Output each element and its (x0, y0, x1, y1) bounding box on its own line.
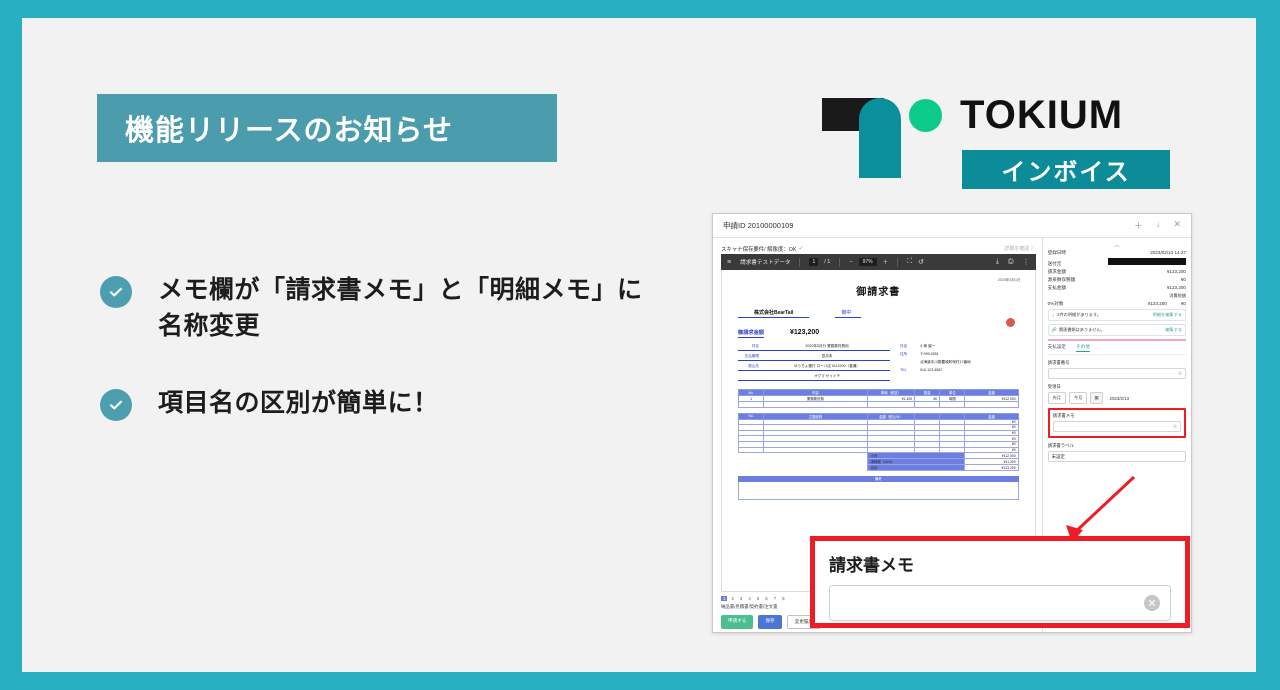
invoice-memo-input[interactable]: ⊗ (1053, 421, 1181, 432)
total-value: ¥123,200 (965, 465, 1018, 471)
invoice-date: 2020年5月1日 (998, 278, 1021, 283)
plus-icon[interactable]: ＋ (1134, 219, 1143, 232)
tokium-logo: TOKIUM インボイス (822, 90, 1157, 195)
invoice-right-column: 氏名 小熊 誠一 住所 〒099-2551 北海道中川郡豊頃町咲村17番地 (900, 344, 1012, 384)
zoom-out-button[interactable]: − (849, 259, 852, 265)
scan-status-row: スキャナ保存要件/ 解像度：OK ✓ 詳細を確認 〉 (721, 243, 1036, 254)
field-key (738, 374, 764, 379)
detail-link[interactable]: 詳細を確認 〉 (1004, 245, 1035, 252)
close-icon[interactable]: ✕ (1173, 219, 1181, 232)
check-icon (100, 389, 132, 421)
page-button[interactable]: 8 (780, 596, 786, 601)
check-icon: ✓ (1052, 313, 1056, 318)
invoice-memo-label: 請求書メモ (1053, 413, 1181, 419)
field-value: ¥0 (1181, 277, 1186, 282)
received-date-label: 受領日 (1048, 384, 1186, 390)
invoice-field-row: 氏名 小熊 誠一 (900, 344, 1012, 349)
panel-tabs: 支払設定 その他 (1048, 341, 1186, 355)
page-button[interactable]: 7 (772, 596, 778, 601)
invoice-detail-columns: 件名 2020年5月分 業務委託費用 支払期限 翌月末 振込先 ゆうちょ銀行 ロ… (738, 344, 1019, 384)
page-title: 機能リリースのお知らせ (97, 107, 453, 149)
field-key: 件名 (738, 344, 764, 349)
totals-row: 合計 ¥123,200 (739, 465, 1019, 471)
page-button[interactable]: 5 (755, 596, 761, 601)
fit-page-icon[interactable]: ⛶ (907, 258, 912, 266)
field-key: 0%対象 (1048, 301, 1064, 307)
total-label: 合計 (867, 465, 965, 471)
page-current-input[interactable]: 1 (809, 258, 818, 266)
invoice-honorific: 御中 (835, 309, 861, 318)
page-button[interactable]: 1 (721, 596, 727, 601)
clear-icon[interactable]: ⊗ (1178, 371, 1182, 377)
field-value: 翌月末 (764, 354, 890, 359)
info-row: 送付元 (1048, 258, 1186, 267)
stamp-seal-icon (1006, 318, 1015, 327)
prev-month-button[interactable]: 先月 (1048, 392, 1066, 404)
invoice-field-row: 支払期限 翌月末 (738, 354, 890, 361)
field-value: 2023/02/13 14:27 (1150, 250, 1186, 255)
clear-icon[interactable]: ⊗ (1173, 424, 1177, 430)
bullet-text: メモ欄が「請求書メモ」と「明細メモ」に名称変更 (158, 273, 660, 344)
field-value: オグマ セイイチ (764, 374, 890, 379)
info-row: 登録日時 2023/02/13 14:27 (1048, 250, 1186, 256)
bullet-text: 項目名の区別が簡単に！ (158, 386, 439, 422)
window-controls: ＋ ↓ ✕ (1134, 219, 1181, 232)
invoice-number-label: 請求書番号 (1048, 360, 1186, 366)
edit-related-link[interactable]: 編集する (1165, 327, 1182, 333)
list-item: メモ欄が「請求書メモ」と「明細メモ」に名称変更 (100, 273, 660, 344)
tab-other[interactable]: その他 (1076, 344, 1090, 352)
note-text: 関連書類はありません。 (1059, 327, 1105, 333)
field-value: 北海道中川郡豊頃町咲村17番地 (920, 360, 1012, 365)
table-row (739, 402, 1019, 408)
invoice-memo-highlight: 請求書メモ ⊗ (1048, 408, 1186, 438)
request-id-label: 申請ID 20100000109 (723, 220, 793, 231)
invoice-amount-value: ¥123,200 (790, 329, 819, 336)
rotate-icon[interactable]: ↺ (918, 258, 924, 266)
invoice-label-value: 未設定 (1052, 454, 1065, 460)
invoice-expense-table: No. 立替経費 金額（税込み） 金額 ¥0 ¥0 ¥0 ¥0 ¥ (738, 413, 1019, 472)
field-key (900, 360, 920, 365)
divider (839, 258, 840, 267)
field-value: ゆうちょ銀行 ローハ店 0112200（普通） (764, 364, 890, 369)
check-icon (100, 276, 132, 308)
zoom-level-label[interactable]: 97% (859, 258, 877, 266)
download-arrow-icon[interactable]: ↓ (1156, 219, 1161, 232)
received-date-value[interactable]: 2023/2/13 (1106, 396, 1130, 401)
redacted-value (1108, 258, 1186, 265)
invoice-line-item-table: No. 内容 単価（税抜） 数量 単位 金額 1 業務委託費 ¥1,400 (738, 389, 1019, 408)
edit-details-link[interactable]: 明細を編集する (1153, 312, 1182, 318)
detail-lines-note: ✓ 2件の明細があります。 明細を編集する (1048, 309, 1186, 321)
invoice-amount-row: 御請求金額 ¥123,200 (738, 329, 1019, 338)
remarks-box (738, 482, 1019, 500)
logo-mark-icon (822, 98, 947, 178)
tab-payment-settings[interactable]: 支払設定 (1048, 344, 1066, 352)
field-value: 〒099-2551 (920, 352, 1012, 357)
logo-badge-label: インボイス (1001, 152, 1130, 187)
logo-wordmark: TOKIUM (960, 94, 1123, 136)
field-value: 小熊 誠一 (920, 344, 1012, 349)
invoice-field-row: 件名 2020年5月分 業務委託費用 (738, 344, 890, 351)
list-item: 項目名の区別が簡単に！ (100, 386, 660, 422)
calendar-icon[interactable]: ▦ (1090, 392, 1102, 404)
note-text: 2件の明細があります。 (1057, 312, 1101, 318)
invoice-amount-label: 御請求金額 (738, 329, 764, 338)
field-key: 住所 (900, 352, 920, 357)
window-titlebar: 申請ID 20100000109 ＋ ↓ ✕ (713, 214, 1191, 238)
page-button[interactable]: 6 (763, 596, 769, 601)
pdf-file-name: 請求書テストデータ (740, 258, 790, 266)
page-button[interactable]: 3 (738, 596, 744, 601)
zero-rate-row: 0%対象 ¥123,200 ¥0 (1048, 301, 1186, 307)
info-row: 支払金額 ¥123,200 (1048, 285, 1186, 291)
invoice-field-row: オグマ セイイチ (738, 374, 890, 381)
logo-dot-shape (909, 99, 942, 132)
field-key: 送付元 (1048, 261, 1062, 267)
page-total-label: / 1 (824, 259, 830, 265)
slide-frame: 機能リリースのお知らせ TOKIUM インボイス メモ欄が「請求書メモ」と「明細… (0, 0, 1280, 690)
divider (799, 258, 800, 267)
invoice-left-column: 件名 2020年5月分 業務委託費用 支払期限 翌月末 振込先 ゆうちょ銀行 ロ… (738, 344, 890, 384)
logo-bar-shape (859, 98, 901, 178)
field-value: 010-123-4567 (920, 368, 1012, 372)
chevron-up-icon[interactable]: ︿ (1048, 242, 1186, 250)
field-key: 振込先 (738, 364, 764, 369)
apply-button[interactable]: 申請する (721, 615, 753, 629)
page-button[interactable]: 4 (746, 596, 752, 601)
title-banner: 機能リリースのお知らせ (97, 94, 557, 162)
field-value-base: ¥123,200 (1148, 301, 1167, 306)
divider (897, 258, 898, 267)
slide-canvas: 機能リリースのお知らせ TOKIUM インボイス メモ欄が「請求書メモ」と「明細… (22, 18, 1256, 672)
related-docs-note: 🔗 関連書類はありません。 編集する (1048, 324, 1186, 336)
invoice-field-row: 振込先 ゆうちょ銀行 ローハ店 0112200（普通） (738, 364, 890, 371)
feature-bullet-list: メモ欄が「請求書メモ」と「明細メモ」に名称変更 項目名の区別が簡単に！ (100, 273, 660, 464)
invoice-field-row: 北海道中川郡豊頃町咲村17番地 (900, 360, 1012, 365)
callout-label: 請求書メモ (829, 551, 1171, 576)
invoice-title: 御請求書 (738, 283, 1019, 298)
field-key: 登録日時 (1048, 250, 1066, 256)
menu-icon[interactable]: ≡ (727, 259, 731, 266)
invoice-label-select[interactable]: 未設定 (1048, 451, 1186, 462)
invoice-field-row: 住所 〒099-2551 (900, 352, 1012, 357)
pdf-toolbar: ≡ 請求書テストデータ 1 / 1 − 97% ＋ ⛶ ↺ ⤓ (721, 254, 1036, 270)
field-key: 氏名 (900, 344, 920, 349)
page-button[interactable]: 2 (729, 596, 735, 601)
scan-status-label: スキャナ保存要件/ 解像度：OK (721, 245, 796, 253)
memo-field-callout: 請求書メモ ✕ (810, 536, 1190, 628)
field-key: 源泉徴収税額 (1048, 277, 1076, 283)
received-date-row: 先月 今月 ▦ 2023/2/13 (1048, 392, 1186, 404)
save-button[interactable]: 保存 (758, 615, 781, 629)
info-row: 請求金額 ¥123,200 (1048, 269, 1186, 275)
info-row: 源泉徴収税額 ¥0 (1048, 277, 1186, 283)
field-value: ¥123,200 (1167, 269, 1186, 274)
more-options-icon[interactable]: ⋮ (1023, 258, 1030, 266)
invoice-label-label: 請求書ラベル (1048, 443, 1186, 449)
field-value: ¥123,200 (1167, 285, 1186, 290)
print-icon[interactable]: ⎙ (1008, 258, 1014, 266)
field-value-tax: ¥0 (1181, 301, 1186, 306)
this-month-button[interactable]: 今月 (1069, 392, 1087, 404)
tax-sub-label: 消費税額 (1048, 293, 1186, 299)
field-key: 支払金額 (1048, 285, 1066, 291)
invoice-number-input[interactable]: ⊗ (1048, 368, 1186, 379)
field-key: 請求金額 (1048, 269, 1066, 275)
field-key: TEL (900, 368, 920, 372)
clear-icon[interactable]: ✕ (1144, 595, 1160, 611)
logo-product-badge: インボイス (962, 150, 1170, 189)
field-key: 支払期限 (738, 354, 764, 359)
invoice-company: 株式会社BearTail (738, 309, 809, 318)
check-icon: ✓ (798, 245, 803, 252)
link-icon: 🔗 (1052, 327, 1057, 333)
toolbar-right-group: ⤓ ⎙ ⋮ (996, 258, 1030, 266)
download-icon[interactable]: ⤓ (996, 258, 999, 266)
zoom-in-button[interactable]: ＋ (883, 258, 889, 266)
invoice-addressee: 株式会社BearTail 御中 (738, 309, 1019, 318)
callout-memo-input[interactable]: ✕ (829, 585, 1171, 621)
invoice-field-row: TEL 010-123-4567 (900, 368, 1012, 372)
field-value: 2020年5月分 業務委託費用 (764, 344, 890, 349)
